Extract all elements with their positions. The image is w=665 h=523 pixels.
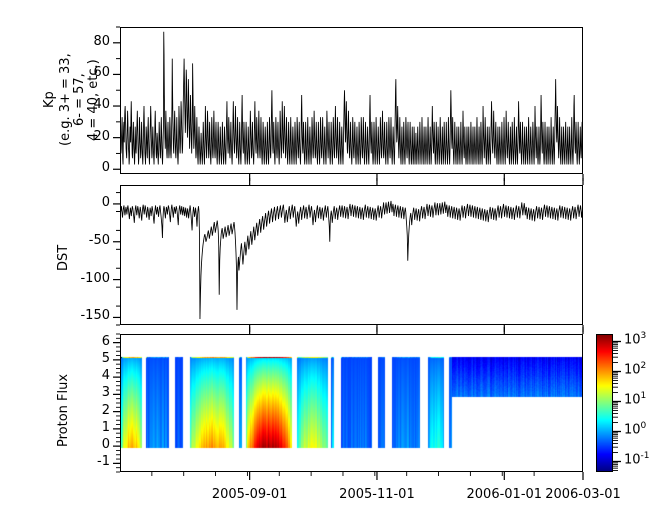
- colorbar-frame: [596, 334, 613, 472]
- x-tick-label-0: 2005-09-01: [195, 487, 305, 502]
- colorbar-label-mantissa-1: 10: [624, 422, 641, 437]
- colorbar-label-mantissa-0: 10: [624, 452, 641, 467]
- colorbar-tick-label-4: 103: [624, 331, 646, 347]
- colorbar-label-exponent-3: 2: [641, 361, 647, 371]
- kp-axis-ticks: [100, 17, 600, 192]
- figure-canvas: Kp(e.g. 3+ = 33,6- = 57,4 = 40, etc.) 02…: [0, 0, 665, 523]
- x-tick-label-3: 2006-03-01: [528, 487, 638, 502]
- colorbar-tick-label-2: 101: [624, 391, 646, 407]
- dst-axis-ticks: [100, 175, 600, 340]
- colorbar-label-exponent-2: 1: [641, 391, 647, 401]
- colorbar-tick-label-3: 102: [624, 361, 646, 377]
- x-tick-label-1: 2005-11-01: [322, 487, 432, 502]
- colorbar-tick-label-0: 10-1: [624, 451, 650, 467]
- colorbar-label-exponent-1: 0: [641, 421, 647, 431]
- colorbar-label-exponent-4: 3: [641, 331, 647, 341]
- colorbar-label-exponent-0: -1: [641, 451, 650, 461]
- colorbar-label-mantissa-4: 10: [624, 332, 641, 347]
- colorbar-tick-label-1: 100: [624, 421, 646, 437]
- colorbar-label-mantissa-2: 10: [624, 392, 641, 407]
- colorbar-label-mantissa-3: 10: [624, 362, 641, 377]
- proton-flux-axis-ticks: [100, 324, 600, 499]
